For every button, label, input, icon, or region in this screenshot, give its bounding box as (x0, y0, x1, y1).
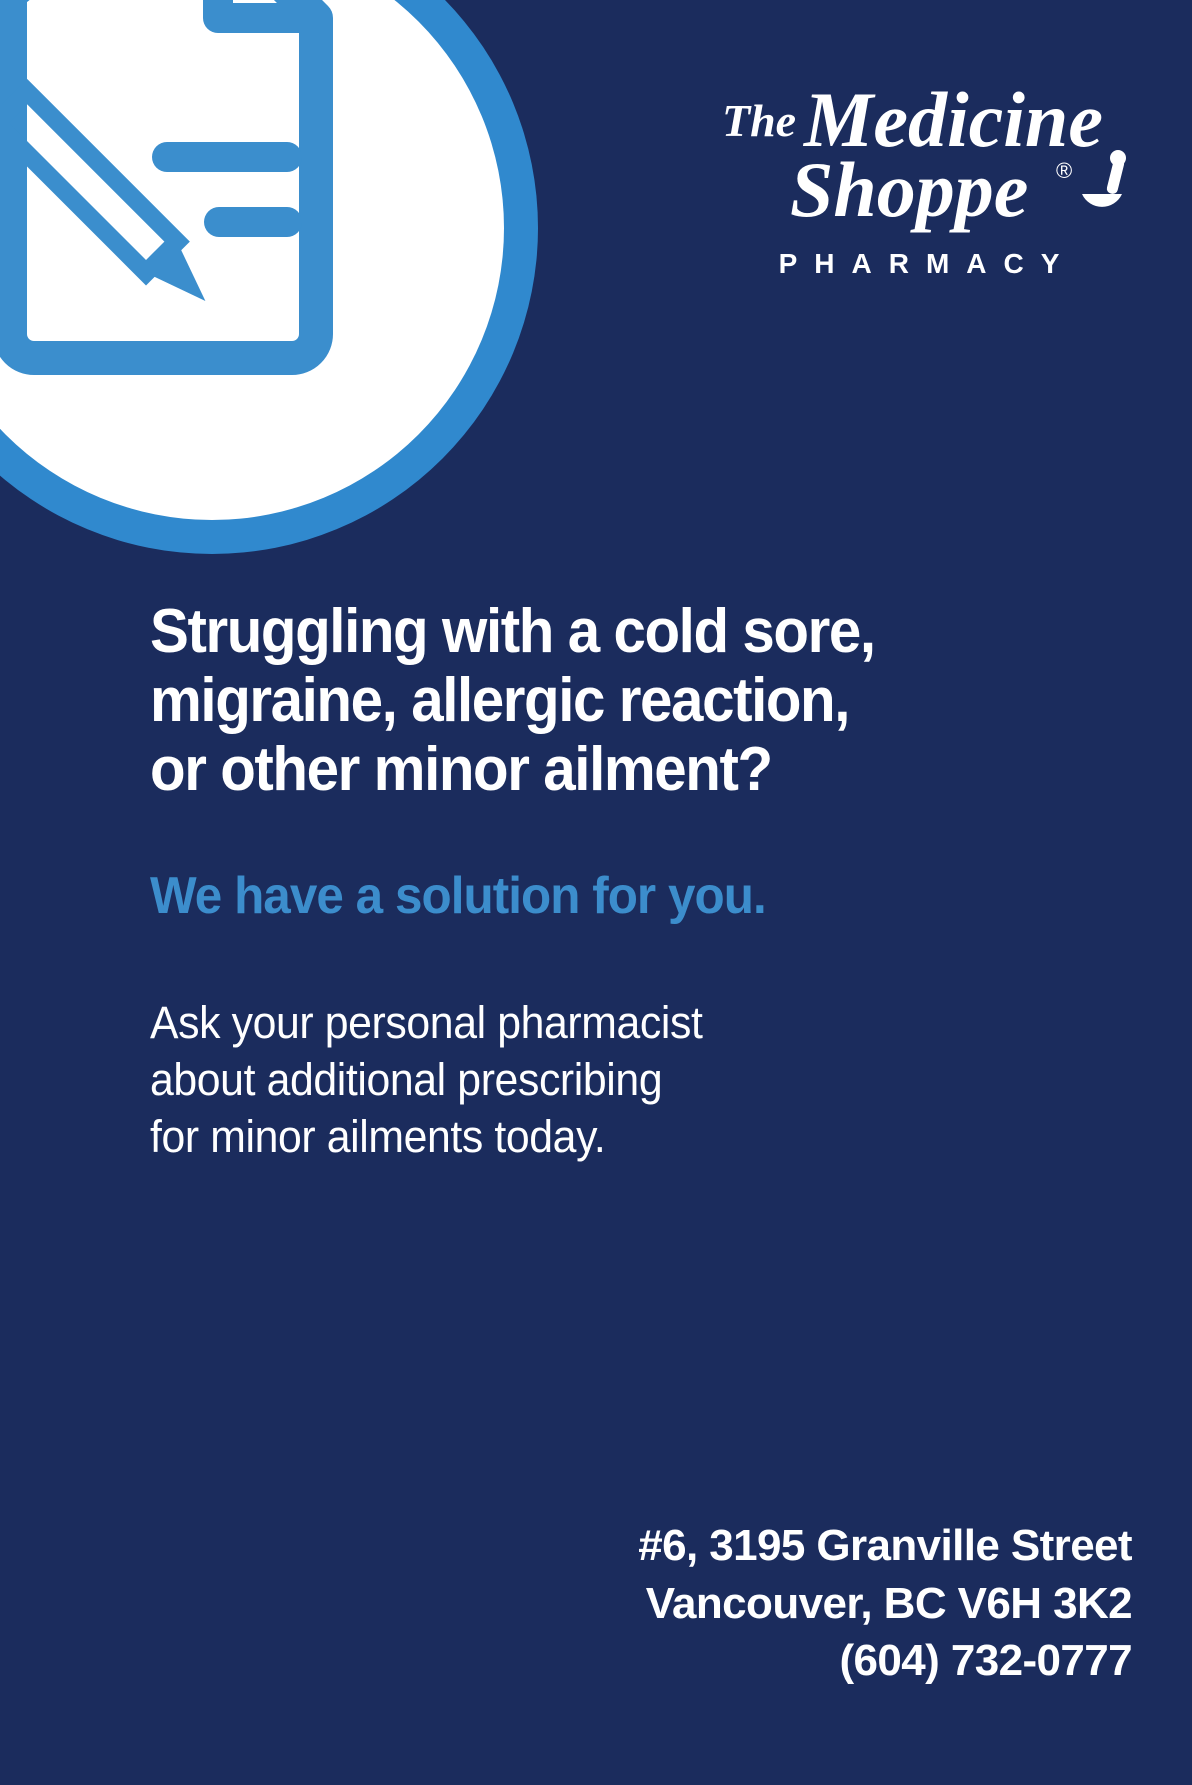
brand-logo: The Medicine Shoppe ® PHARMACY (704, 84, 1134, 278)
headline-line-3: or other minor ailment? (150, 736, 996, 805)
logo-the: The (722, 95, 796, 146)
logo-shoppe: Shoppe (790, 146, 1028, 233)
logo-script-wordmark: The Medicine Shoppe ® (704, 84, 1134, 244)
address-phone[interactable]: (604) 732-0777 (638, 1632, 1132, 1689)
body-copy: Ask your personal pharmacist about addit… (150, 994, 1005, 1165)
store-address-block: #6, 3195 Granville Street Vancouver, BC … (638, 1517, 1132, 1689)
body-line-3: for minor ailments today. (150, 1108, 1005, 1165)
headline-line-2: migraine, allergic reaction, (150, 667, 996, 736)
copy-block: Struggling with a cold sore, migraine, a… (150, 598, 1050, 1165)
prescription-document-pencil-icon (0, 0, 538, 554)
address-city-province-postal: Vancouver, BC V6H 3K2 (638, 1575, 1132, 1632)
body-line-2: about additional prescribing (150, 1051, 1005, 1108)
logo-registered-mark: ® (1056, 158, 1072, 183)
prescription-badge (0, 0, 538, 554)
subheadline: We have a solution for you. (150, 868, 1005, 925)
headline-line-1: Struggling with a cold sore, (150, 598, 996, 667)
body-line-1: Ask your personal pharmacist (150, 994, 1005, 1051)
logo-pharmacy-wordmark: PHARMACY (704, 250, 1134, 278)
poster-canvas: The Medicine Shoppe ® PHARMACY Strugglin… (0, 0, 1192, 1785)
headline: Struggling with a cold sore, migraine, a… (150, 598, 996, 804)
address-street: #6, 3195 Granville Street (638, 1517, 1132, 1574)
the-medicine-shoppe-script: The Medicine Shoppe ® (704, 84, 1134, 244)
